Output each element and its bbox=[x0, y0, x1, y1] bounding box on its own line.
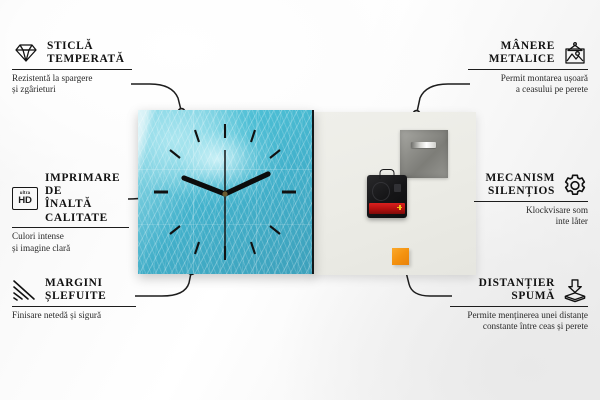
feature-title-line2: TEMPERATĂ bbox=[47, 53, 125, 66]
clock-center-cap bbox=[222, 191, 227, 196]
clock-dial bbox=[138, 110, 312, 274]
feature-title-line1: DISTANȚIER bbox=[479, 277, 555, 290]
feature-subtitle-line2: constante între ceas și perete bbox=[450, 321, 588, 332]
ultra-hd-badge-icon: ultra HD bbox=[12, 187, 38, 210]
feature-silent-mechanism: MECANISM SILENȚIOS Klockvisare som inte … bbox=[474, 172, 588, 227]
clock-back-panel bbox=[310, 112, 476, 275]
arrow-onto-pad-icon bbox=[562, 278, 588, 303]
mechanism-nub bbox=[394, 184, 401, 193]
feature-hd-print: ultra HD IMPRIMARE DE ÎNALTĂ CALITATE Cu… bbox=[12, 172, 129, 254]
wall-clock-face bbox=[138, 110, 314, 274]
foam-spacer-part bbox=[392, 248, 409, 265]
clock-mechanism-part bbox=[367, 175, 407, 218]
feature-subtitle-line2: a ceasului pe perete bbox=[468, 84, 588, 95]
battery-plus-icon bbox=[397, 205, 402, 210]
feature-title-line1: IMPRIMARE DE bbox=[45, 172, 129, 198]
clock-hour-hand bbox=[184, 178, 225, 194]
feature-title-line1: MÂNERE bbox=[489, 40, 555, 53]
feature-subtitle-line1: Culori intense bbox=[12, 231, 129, 242]
feature-title-line2: SILENȚIOS bbox=[485, 185, 555, 198]
feature-subtitle-line2: inte låter bbox=[474, 216, 588, 227]
mechanism-dial bbox=[372, 182, 390, 201]
clock-minute-hand bbox=[225, 174, 268, 194]
mechanism-hanger-loop bbox=[380, 169, 395, 179]
feature-metal-handles: MÂNERE METALICE Permit montarea ușoară a… bbox=[468, 40, 588, 95]
feature-title-line1: STICLĂ bbox=[47, 40, 125, 53]
gear-icon bbox=[562, 173, 588, 198]
feature-rule bbox=[12, 69, 132, 70]
feature-title-line2: METALICE bbox=[489, 53, 555, 66]
infographic-canvas: STICLĂ TEMPERATĂ Rezistentă la spargere … bbox=[0, 0, 600, 400]
feature-rule bbox=[474, 201, 588, 202]
feature-subtitle-line1: Klockvisare som bbox=[474, 205, 588, 216]
picture-hanger-icon bbox=[562, 41, 588, 65]
feature-foam-spacer: DISTANȚIER SPUMĂ Permite menținerea unei… bbox=[450, 277, 588, 332]
diagonal-stripes-icon bbox=[12, 279, 38, 301]
feature-subtitle-line1: Finisare netedă și sigură bbox=[12, 310, 136, 321]
feature-title-line2: SPUMĂ bbox=[479, 290, 555, 303]
hanger-slot bbox=[411, 142, 436, 148]
feature-subtitle-line1: Permite menținerea unei distanțe bbox=[450, 310, 588, 321]
feature-tempered-glass: STICLĂ TEMPERATĂ Rezistentă la spargere … bbox=[12, 40, 132, 95]
diamond-icon bbox=[12, 42, 40, 64]
feature-subtitle-line1: Permit montarea ușoară bbox=[468, 73, 588, 84]
feature-subtitle-line2: și zgârieturi bbox=[12, 84, 132, 95]
feature-rule bbox=[450, 306, 588, 307]
metal-hanger-part bbox=[400, 130, 448, 178]
mechanism-battery bbox=[369, 203, 404, 214]
feature-title-line2: ȘLEFUITE bbox=[45, 290, 106, 303]
feature-subtitle-line2: și imagine clară bbox=[12, 243, 129, 254]
badge-hd-text: HD bbox=[18, 196, 31, 206]
feature-title-line1: MECANISM bbox=[485, 172, 555, 185]
feature-rule bbox=[12, 306, 136, 307]
feature-subtitle-line1: Rezistentă la spargere bbox=[12, 73, 132, 84]
feature-rule bbox=[468, 69, 588, 70]
feature-rule bbox=[12, 227, 129, 228]
feature-title-line2: ÎNALTĂ CALITATE bbox=[45, 198, 129, 224]
feature-polished-edges: MARGINI ȘLEFUITE Finisare netedă și sigu… bbox=[12, 277, 136, 321]
feature-title-line1: MARGINI bbox=[45, 277, 106, 290]
